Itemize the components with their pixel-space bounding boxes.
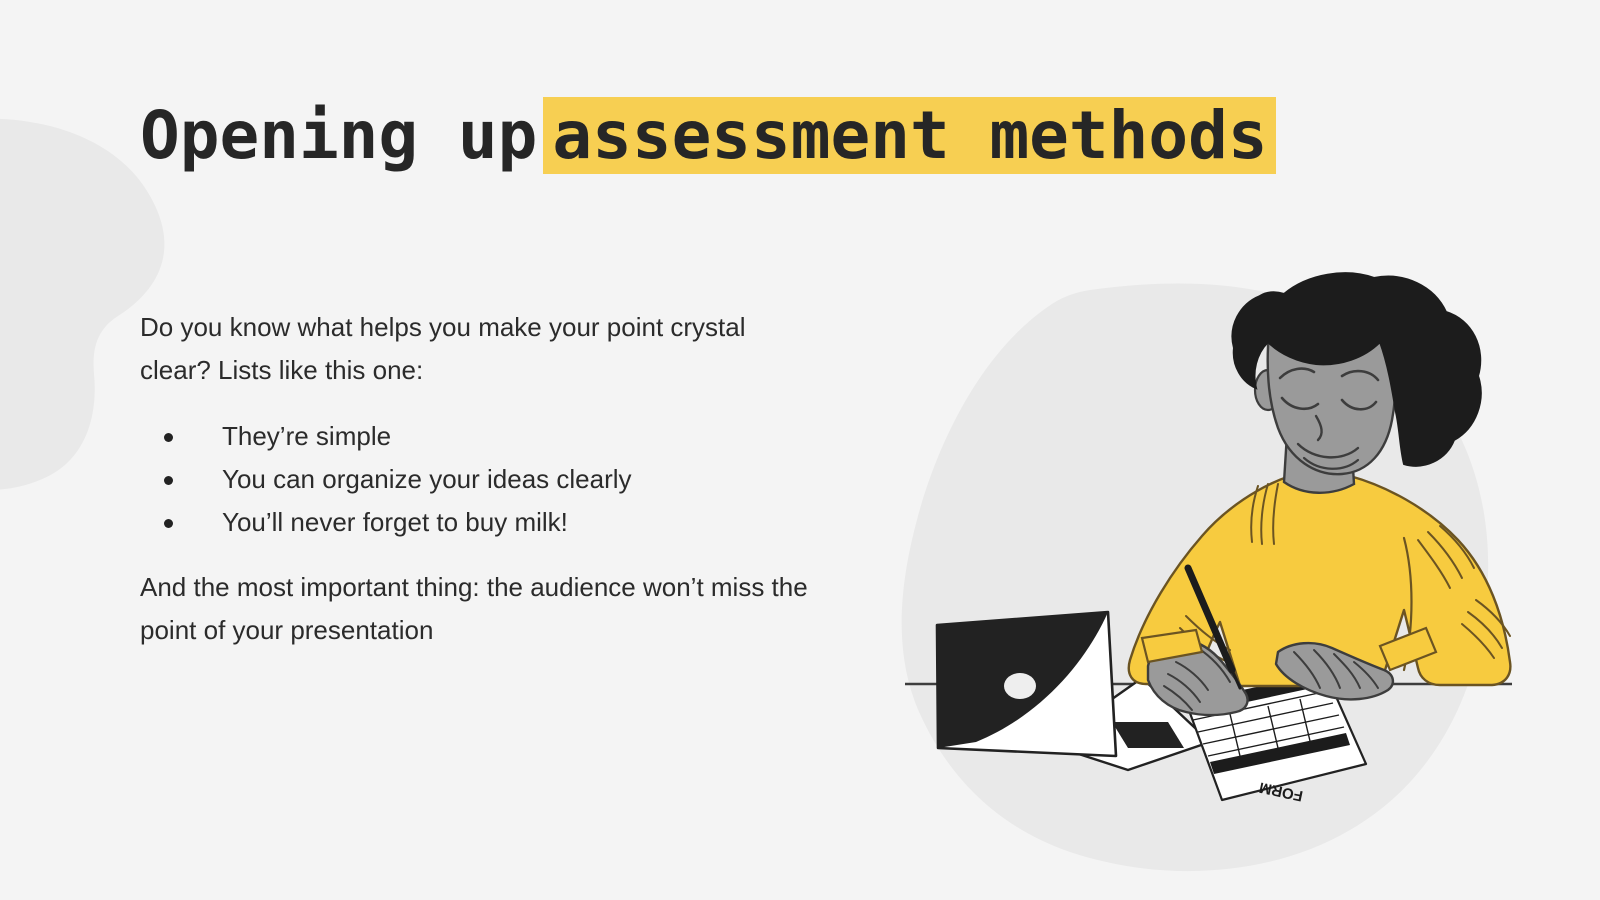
bullet-dot-icon (164, 519, 173, 528)
laptop-logo-icon (1004, 673, 1036, 699)
outro-paragraph: And the most important thing: the audien… (140, 566, 840, 652)
list-item-label: You’ll never forget to buy milk! (222, 507, 568, 537)
intro-paragraph: Do you know what helps you make your poi… (140, 306, 780, 392)
list-item-label: You can organize your ideas clearly (222, 464, 632, 494)
slide-canvas: Opening upassessment methods Do you know… (0, 0, 1600, 900)
body-text-column: Do you know what helps you make your poi… (140, 306, 860, 652)
page-title: Opening upassessment methods (140, 88, 1276, 184)
list-item: They’re simple (140, 415, 860, 458)
person-filling-out-form-illustration: FORM (880, 270, 1580, 900)
list-item: You can organize your ideas clearly (140, 458, 860, 501)
list-item: You’ll never forget to buy milk! (140, 501, 860, 544)
list-item-label: They’re simple (222, 421, 391, 451)
bullet-dot-icon (164, 433, 173, 442)
bullet-list: They’re simple You can organize your ide… (140, 415, 860, 544)
page-title-highlight: assessment methods (543, 97, 1275, 174)
person-figure (1129, 273, 1511, 715)
bullet-dot-icon (164, 476, 173, 485)
page-title-plain: Opening up (140, 97, 537, 174)
